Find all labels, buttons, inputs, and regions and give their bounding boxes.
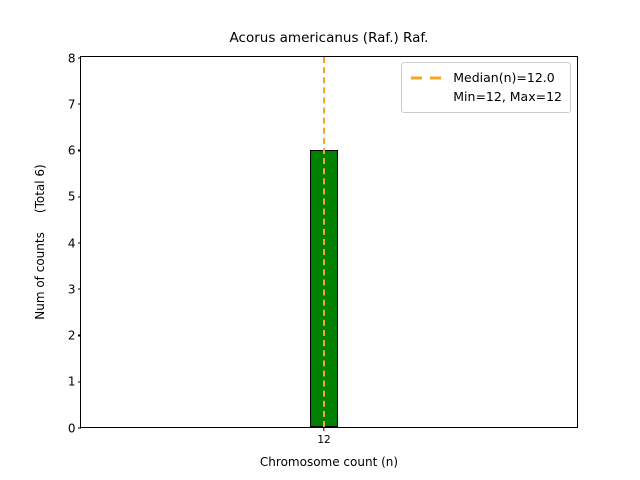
y-tick-8: 8 [68, 48, 81, 67]
y-tick-label-4: 4 [68, 237, 76, 249]
y-tick-label-8: 8 [68, 52, 76, 64]
chart-title: Acorus americanus (Raf.) Raf. [80, 30, 578, 46]
y-tick-label-5: 5 [68, 191, 76, 203]
legend-label-median: Median(n)=12.0 [453, 70, 554, 85]
legend-row-median: Median(n)=12.0 [410, 68, 562, 87]
y-tick-label-3: 3 [68, 283, 76, 295]
median-line [323, 57, 325, 427]
dashed-line-icon [410, 72, 444, 84]
legend: Median(n)=12.0 Min=12, Max=12 [401, 62, 571, 113]
legend-label-minmax: Min=12, Max=12 [453, 89, 562, 104]
x-tick-label-0: 12 [317, 434, 330, 446]
y-tick-0: 0 [68, 418, 81, 437]
y-tick-label-1: 1 [68, 376, 76, 388]
x-tick-0: 12 [317, 427, 330, 446]
x-axis-label: Chromosome count (n) [80, 455, 578, 469]
x-tick-mark-0 [323, 427, 324, 431]
y-tick-label-0: 0 [68, 422, 76, 434]
y-tick-7: 7 [68, 94, 81, 113]
legend-row-minmax: Min=12, Max=12 [410, 87, 562, 106]
y-tick-label-2: 2 [68, 330, 76, 342]
y-tick-6: 6 [68, 140, 81, 159]
y-tick-1: 1 [68, 371, 81, 390]
figure-canvas: Acorus americanus (Raf.) Raf. 0 1 2 3 4 … [0, 0, 640, 480]
y-tick-label-7: 7 [68, 98, 76, 110]
y-axis-label: Num of counts (Total 6) [32, 56, 48, 428]
y-tick-4: 4 [68, 233, 81, 252]
y-tick-label-6: 6 [68, 145, 76, 157]
y-tick-2: 2 [68, 325, 81, 344]
y-tick-mark-0 [78, 427, 82, 428]
y-tick-5: 5 [68, 186, 81, 205]
plot-area: 0 1 2 3 4 5 6 7 8 12 [80, 56, 578, 428]
y-tick-3: 3 [68, 279, 81, 298]
